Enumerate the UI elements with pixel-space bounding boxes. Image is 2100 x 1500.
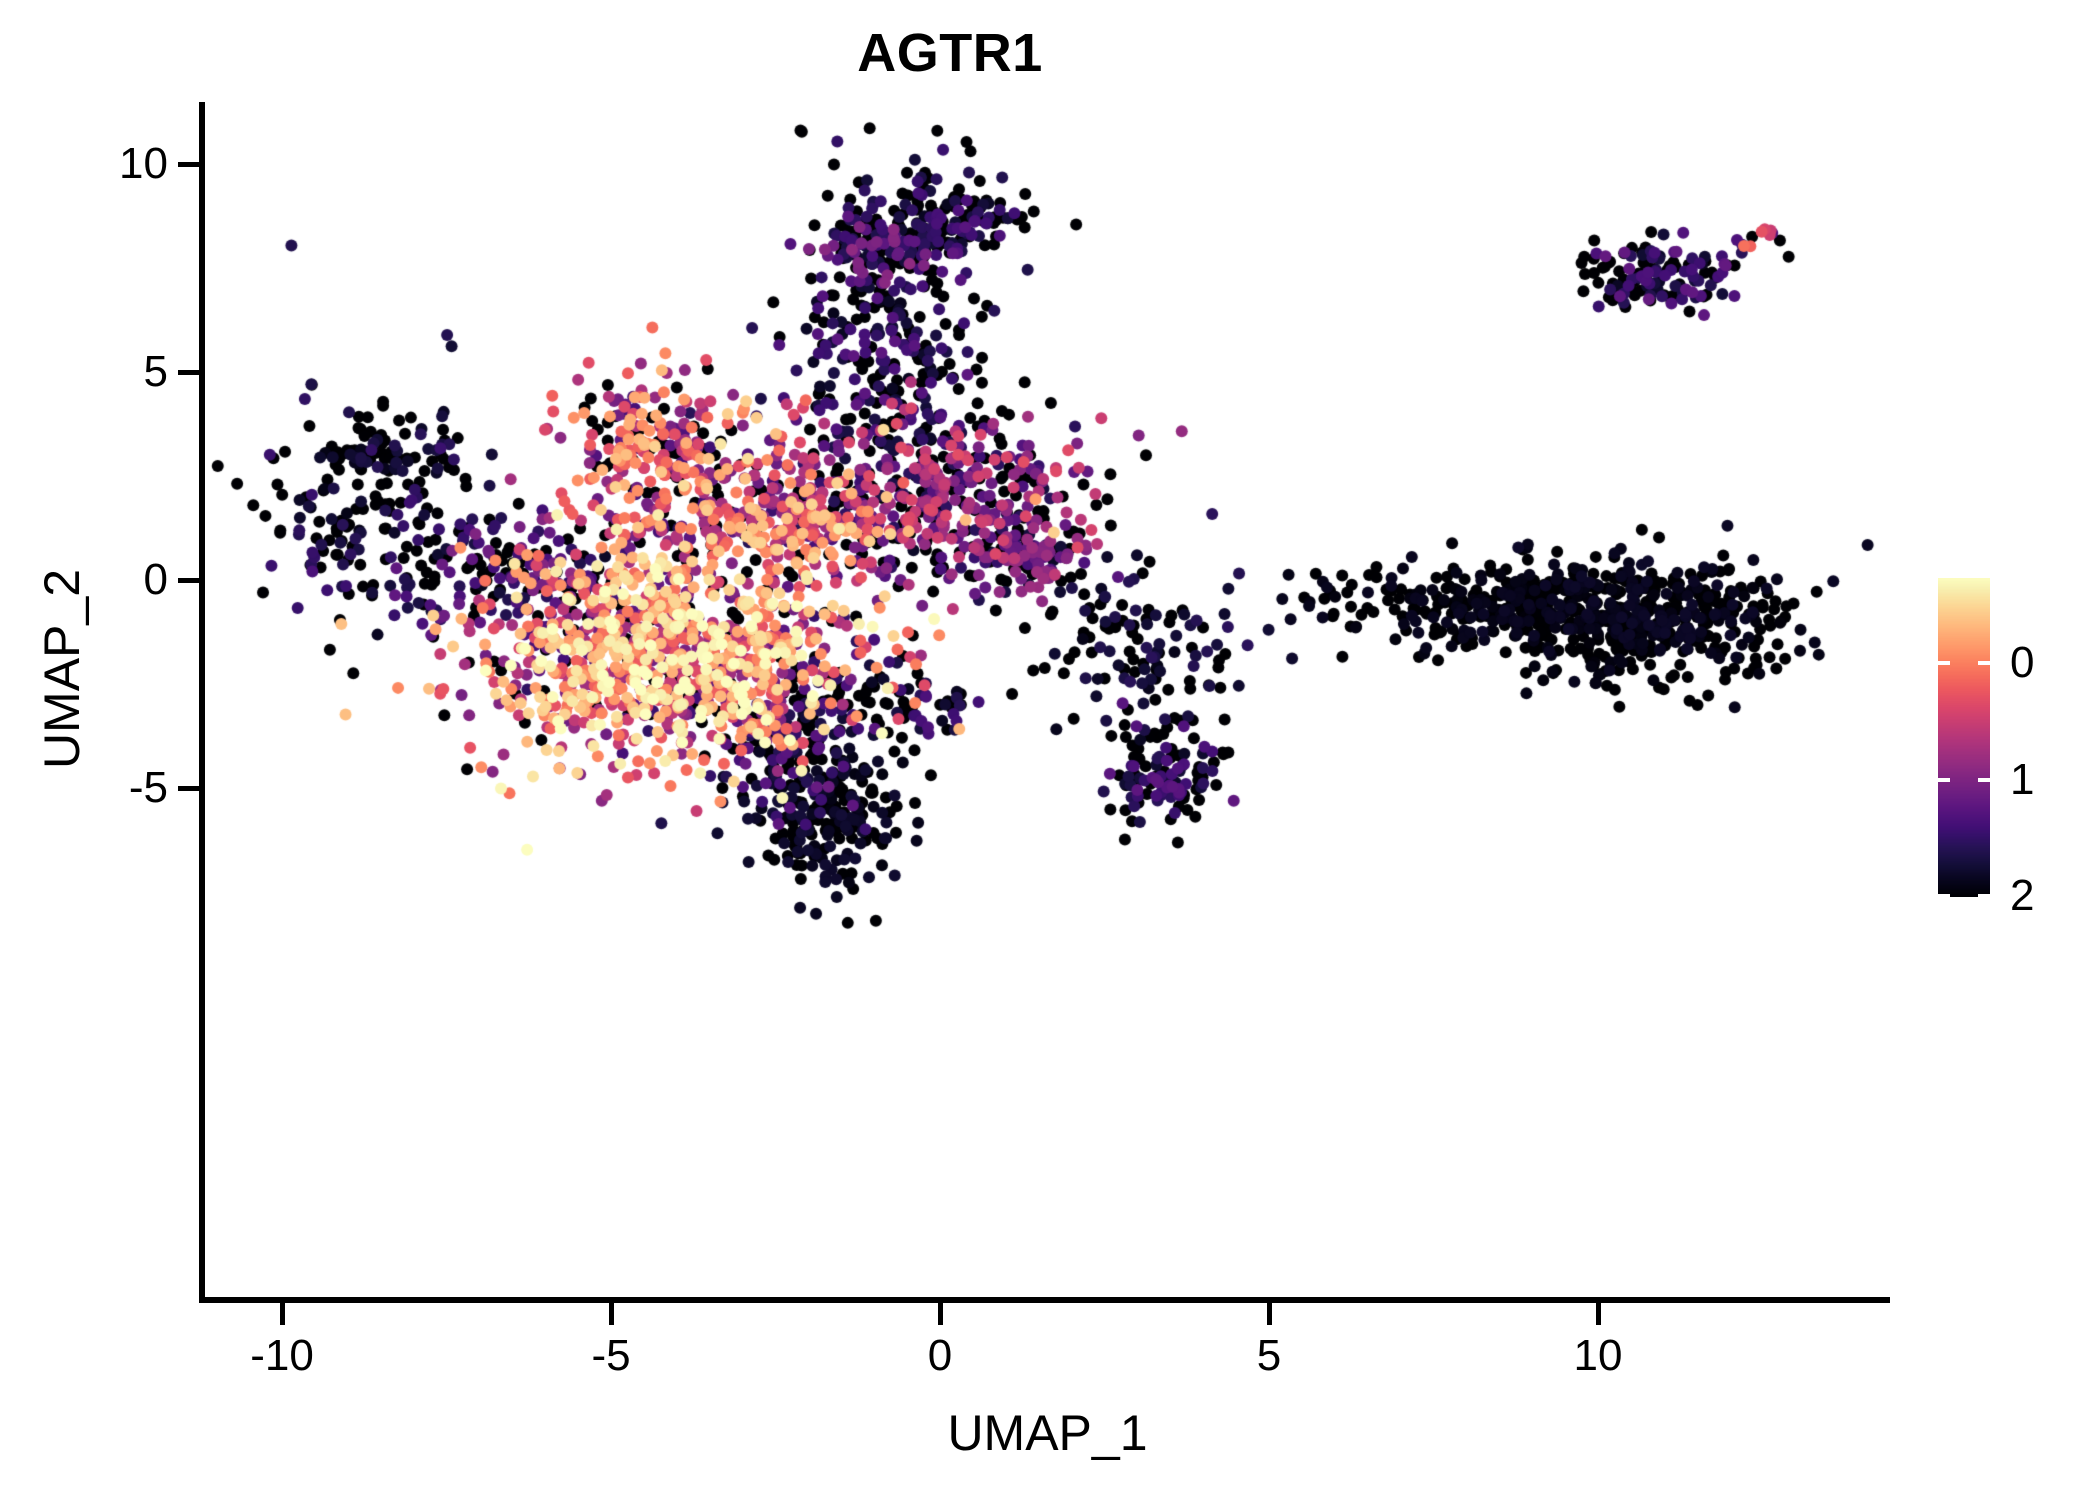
x-axis-label: UMAP_1 [205, 1404, 1890, 1462]
x-tick-label: -5 [531, 1334, 691, 1378]
y-axis-line [199, 102, 205, 1303]
scatter-points-canvas [205, 100, 1890, 1303]
colorbar-tick-mark [1978, 778, 1990, 782]
x-tick-mark [1596, 1303, 1601, 1325]
colorbar-gradient [1938, 578, 1990, 897]
colorbar-tick-mark [1938, 661, 1950, 665]
y-tick-mark [178, 370, 200, 375]
y-axis-label: UMAP_2 [33, 359, 91, 979]
x-tick-label: -10 [202, 1334, 362, 1378]
colorbar-tick-mark [1938, 894, 1950, 898]
x-tick-label: 0 [860, 1334, 1020, 1378]
x-tick-mark [609, 1303, 614, 1325]
colorbar-tick-label: 0 [2010, 641, 2080, 685]
colorbar-tick-label: 1 [2010, 758, 2080, 802]
scatter-plot-panel [205, 100, 1890, 1303]
x-tick-label: 5 [1189, 1334, 1349, 1378]
y-tick-label: 10 [10, 142, 168, 186]
colorbar-tick-mark [1978, 894, 1990, 898]
page-title: AGTR1 [0, 22, 1900, 84]
x-axis-line [199, 1297, 1890, 1303]
color-legend: 210 [1938, 578, 1990, 897]
colorbar-tick-mark [1938, 778, 1950, 782]
y-tick-mark [178, 786, 200, 791]
colorbar-tick-mark [1978, 661, 1990, 665]
y-tick-mark [178, 162, 200, 167]
feature-plot-figure: AGTR1 1050-5 -10-50510 UMAP_1 UMAP_2 210 [0, 0, 2100, 1500]
x-tick-mark [1267, 1303, 1272, 1325]
x-tick-mark [280, 1303, 285, 1325]
y-tick-mark [178, 578, 200, 583]
x-tick-label: 10 [1518, 1334, 1678, 1378]
x-tick-mark [938, 1303, 943, 1325]
colorbar-tick-label: 2 [2010, 874, 2080, 918]
